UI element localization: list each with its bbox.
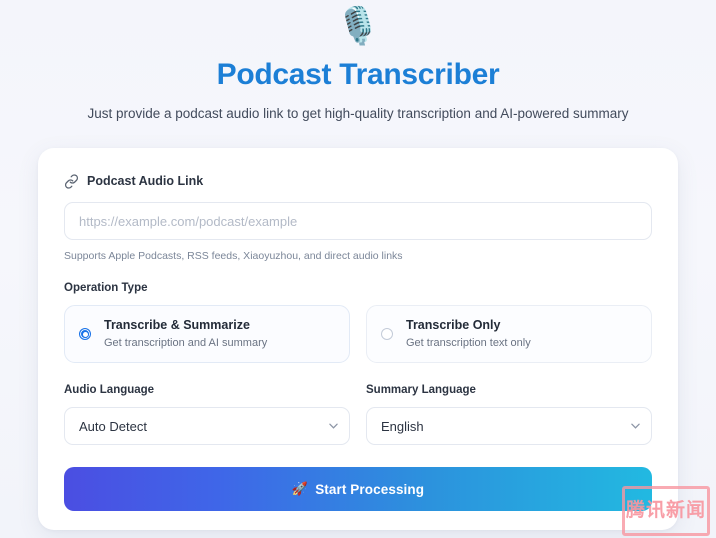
option-description: Get transcription and AI summary bbox=[104, 336, 267, 350]
option-title: Transcribe & Summarize bbox=[104, 318, 267, 333]
rocket-icon: 🚀 bbox=[292, 481, 308, 497]
operation-type-options: Transcribe & Summarize Get transcription… bbox=[64, 305, 652, 363]
summary-language-group: Summary Language English bbox=[366, 383, 652, 445]
audio-language-label: Audio Language bbox=[64, 383, 350, 398]
summary-language-select[interactable]: English bbox=[366, 407, 652, 445]
page-header: 🎙️ Podcast Transcriber Just provide a po… bbox=[0, 4, 716, 123]
summary-language-label: Summary Language bbox=[366, 383, 652, 398]
radio-transcribe-and-summarize[interactable] bbox=[79, 328, 91, 340]
operation-type-label: Operation Type bbox=[64, 281, 652, 296]
audio-link-helper-text: Supports Apple Podcasts, RSS feeds, Xiao… bbox=[64, 249, 652, 263]
option-title: Transcribe Only bbox=[406, 318, 531, 333]
podcast-url-input[interactable] bbox=[64, 202, 652, 240]
radio-transcribe-only[interactable] bbox=[381, 328, 393, 340]
page-subtitle: Just provide a podcast audio link to get… bbox=[0, 105, 716, 123]
studio-microphone-icon: 🎙️ bbox=[0, 4, 716, 50]
start-processing-label: Start Processing bbox=[315, 482, 424, 497]
link-icon bbox=[64, 174, 79, 189]
page-root: 🎙️ Podcast Transcriber Just provide a po… bbox=[0, 0, 716, 538]
option-transcribe-and-summarize[interactable]: Transcribe & Summarize Get transcription… bbox=[64, 305, 350, 363]
audio-language-group: Audio Language Auto Detect bbox=[64, 383, 350, 445]
start-processing-button[interactable]: 🚀 Start Processing bbox=[64, 467, 652, 511]
language-selects-row: Audio Language Auto Detect Summary Langu… bbox=[64, 383, 652, 445]
transcriber-form-card: Podcast Audio Link Supports Apple Podcas… bbox=[38, 148, 678, 530]
audio-language-select[interactable]: Auto Detect bbox=[64, 407, 350, 445]
page-title: Podcast Transcriber bbox=[0, 57, 716, 93]
audio-link-label: Podcast Audio Link bbox=[87, 173, 203, 189]
option-transcribe-only[interactable]: Transcribe Only Get transcription text o… bbox=[366, 305, 652, 363]
audio-link-label-row: Podcast Audio Link bbox=[64, 172, 652, 190]
option-description: Get transcription text only bbox=[406, 336, 531, 350]
